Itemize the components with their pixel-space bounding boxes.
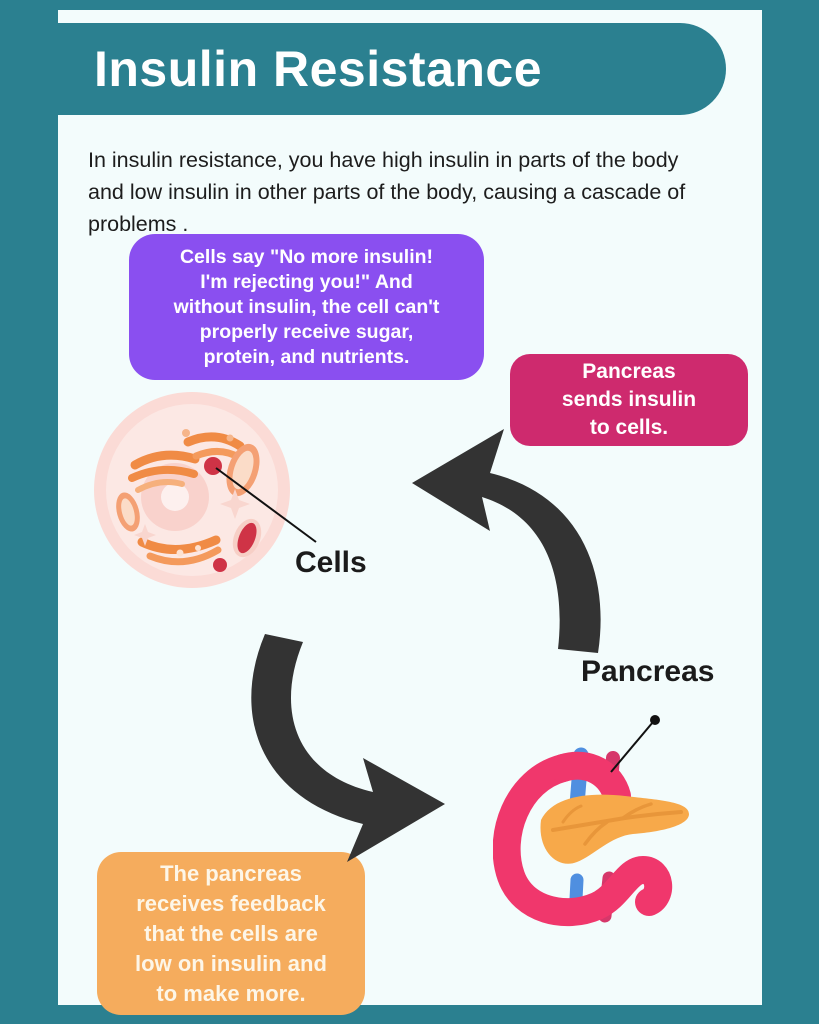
title-bar: Insulin Resistance <box>58 23 726 115</box>
page-title: Insulin Resistance <box>58 40 542 98</box>
callout-line: I'm rejecting you!" And <box>200 270 413 295</box>
pancreas-icon <box>493 710 723 940</box>
arrow-cells-to-pancreas-icon <box>213 628 483 863</box>
arrow-pancreas-to-cells-icon <box>370 425 630 660</box>
label-pancreas: Pancreas <box>581 655 714 689</box>
pancreas-illustration <box>493 710 723 940</box>
content-sheet: Insulin Resistance In insulin resistance… <box>58 10 762 1005</box>
callout-line: without insulin, the cell can't <box>174 295 440 320</box>
callout-line: properly receive sugar, <box>200 320 414 345</box>
callout-line: that the cells are <box>144 919 318 949</box>
callout-line: Pancreas <box>582 358 675 386</box>
callout-cells-reject-insulin: Cells say "No more insulin! I'm rejectin… <box>129 234 484 380</box>
cells-leader-line <box>208 450 338 560</box>
callout-line: protein, and nutrients. <box>204 345 410 370</box>
callout-line: low on insulin and <box>135 949 327 979</box>
intro-paragraph: In insulin resistance, you have high ins… <box>88 144 713 240</box>
label-cells: Cells <box>295 546 367 580</box>
infographic-poster: Insulin Resistance In insulin resistance… <box>0 0 819 1024</box>
callout-line: Cells say "No more insulin! <box>180 245 433 270</box>
callout-line: sends insulin <box>562 386 696 414</box>
callout-line: The pancreas <box>160 859 302 889</box>
callout-line: receives feedback <box>136 889 326 919</box>
callout-pancreas-receives-feedback: The pancreas receives feedback that the … <box>97 852 365 1015</box>
callout-line: to make more. <box>156 979 305 1009</box>
